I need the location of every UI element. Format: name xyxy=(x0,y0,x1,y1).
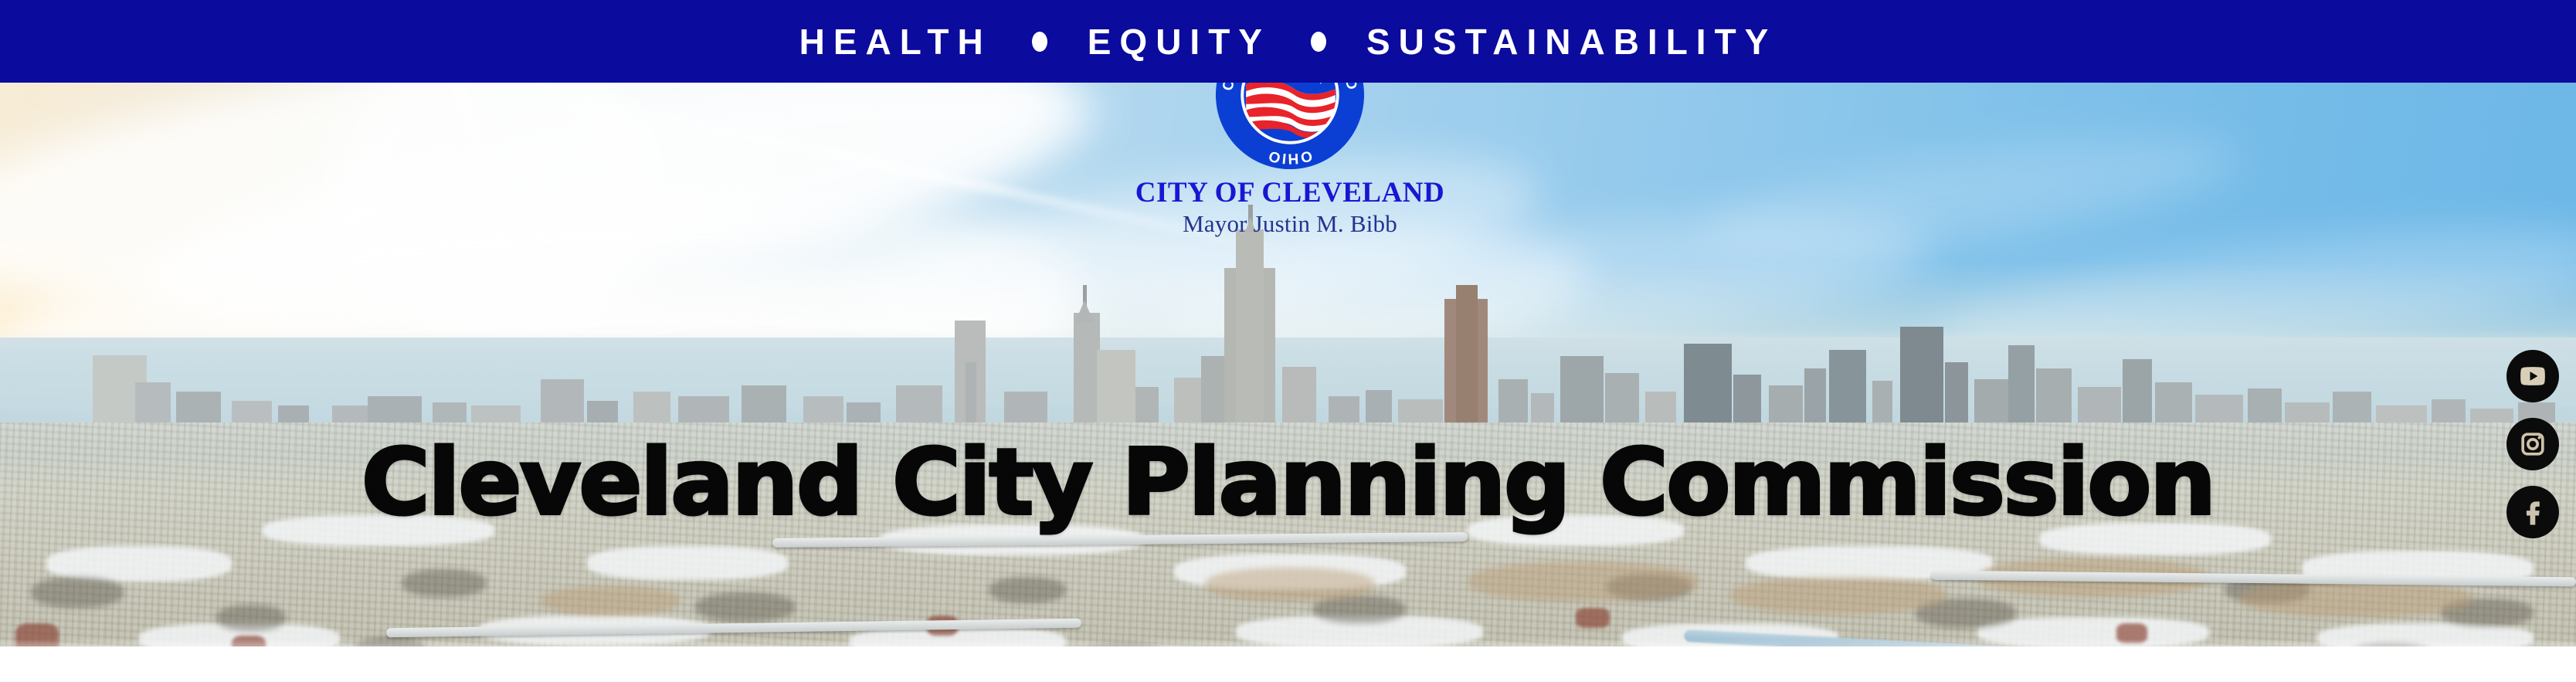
tagline-word-equity: EQUITY xyxy=(1088,24,1271,59)
facebook-icon xyxy=(2516,495,2550,529)
ground-detail xyxy=(695,592,796,622)
ground-detail xyxy=(541,586,680,616)
ground-detail xyxy=(402,569,487,597)
ground-detail xyxy=(1730,577,1946,614)
mayor-name: Mayor Justin M. Bibb xyxy=(1081,211,1498,237)
facebook-button[interactable] xyxy=(2506,486,2559,538)
ground-detail xyxy=(2240,580,2472,617)
page-footer-whitespace xyxy=(0,646,2576,682)
youtube-icon xyxy=(2516,359,2550,393)
tagline-word-health: HEALTH xyxy=(799,24,992,59)
tagline-banner: HEALTH EQUITY SUSTAINABILITY xyxy=(0,0,2576,83)
tagline-bullet-icon xyxy=(1032,32,1047,52)
skyline-building xyxy=(1236,229,1264,436)
instagram-icon xyxy=(2516,427,2550,461)
ground-detail xyxy=(31,577,124,608)
ground-detail xyxy=(1468,562,1699,602)
page-root: HEALTH EQUITY SUSTAINABILITY xyxy=(0,0,2576,682)
skyline-building xyxy=(1900,327,1943,436)
skyline-spire xyxy=(1075,300,1094,322)
skyline-building xyxy=(1456,285,1478,436)
page-title: Cleveland City Planning Commission xyxy=(0,436,2576,528)
social-links-rail xyxy=(2505,350,2561,538)
ground-detail xyxy=(216,605,286,631)
org-name: CITY OF CLEVELAND xyxy=(1081,178,1498,209)
ground-detail xyxy=(989,577,1066,603)
tagline-bullet-icon xyxy=(1311,32,1326,52)
youtube-button[interactable] xyxy=(2506,350,2559,402)
instagram-button[interactable] xyxy=(2506,418,2559,470)
photo-bottom-fade xyxy=(0,639,2576,646)
tagline-inner: HEALTH EQUITY SUSTAINABILITY xyxy=(799,24,1777,59)
ground-detail xyxy=(587,546,788,580)
skyline-building xyxy=(1074,313,1100,436)
tagline-word-sustainability: SUSTAINABILITY xyxy=(1366,24,1777,59)
ground-detail xyxy=(1205,568,1375,602)
ground-detail xyxy=(1576,608,1610,628)
